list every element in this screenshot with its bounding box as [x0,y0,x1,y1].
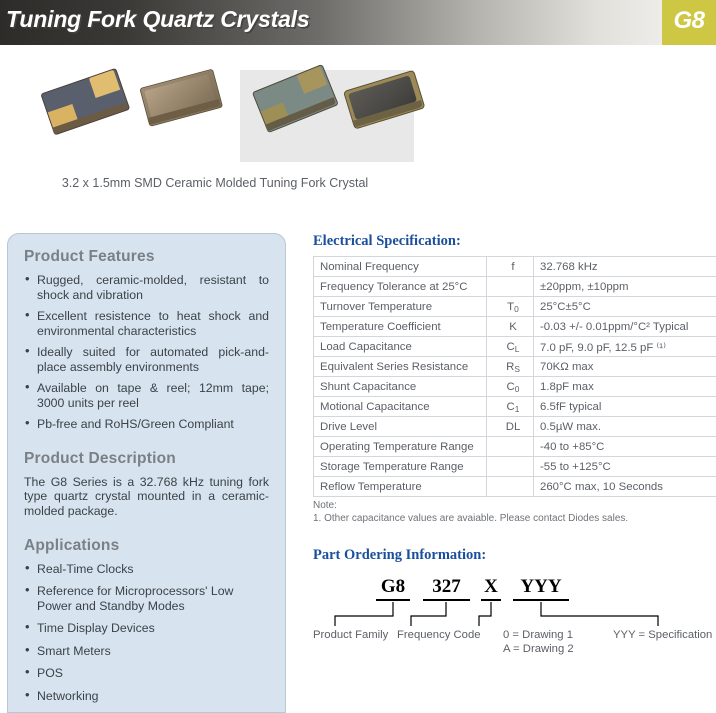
spec-symbol: DL [487,417,534,437]
spec-parameter: Equivalent Series Resistance [314,357,487,377]
part-ordering-leader-lines [313,602,705,628]
spec-symbol [487,437,534,457]
product-features-list: Rugged, ceramic-molded, resistant to sho… [24,273,269,432]
spec-parameter: Reflow Temperature [314,477,487,497]
spec-value: 32.768 kHz [534,257,716,277]
list-item: Ideally suited for automated pick-and-pl… [24,345,269,374]
product-description-text: The G8 Series is a 32.768 kHz tuning for… [24,475,269,519]
spec-symbol: C0 [487,377,534,397]
leader-lines-svg [313,602,705,628]
label-drawing-code: 0 = Drawing 1A = Drawing 2 [503,628,574,656]
series-badge: G8 [662,0,716,45]
spec-symbol: K [487,317,534,337]
spec-value: 260°C max, 10 Seconds [534,477,716,497]
list-item: Networking [24,689,269,704]
symbol-base: C [507,381,515,393]
spec-symbol: f [487,257,534,277]
product-description-heading: Product Description [24,450,269,468]
symbol-subscript: 1 [515,404,520,414]
table-row: Nominal Frequency f 32.768 kHz [314,257,716,277]
product-photo-area: 3.2 x 1.5mm SMD Ceramic Molded Tuning Fo… [0,45,716,210]
part-code-frequency: 327 [423,576,470,601]
spec-parameter: Motional Capacitance [314,397,487,417]
list-item: Real-Time Clocks [24,562,269,577]
table-row: Drive Level DL 0.5µW max. [314,417,716,437]
table-row: Turnover Temperature T0 25°C±5°C [314,297,716,317]
spec-parameter: Shunt Capacitance [314,377,487,397]
spec-value: -40 to +85°C [534,437,716,457]
leader-frequency-code [411,602,446,626]
spec-value: 1.8pF max [534,377,716,397]
table-row: Operating Temperature Range -40 to +85°C [314,437,716,457]
list-item: Available on tape & reel; 12mm tape; 300… [24,381,269,410]
spec-symbol: T0 [487,297,534,317]
table-row: Reflow Temperature 260°C max, 10 Seconds [314,477,716,497]
symbol-base: f [511,261,514,273]
table-note: Note: 1. Other capacitance values are av… [313,500,705,525]
list-item: Smart Meters [24,644,269,659]
spec-parameter: Drive Level [314,417,487,437]
spec-value: 6.5fF typical [534,397,716,417]
spec-parameter: Operating Temperature Range [314,437,487,457]
spec-symbol [487,277,534,297]
note-label: Note: [313,500,705,513]
product-image-crystal-2 [139,69,220,125]
spec-symbol [487,477,534,497]
page-header: Tuning Fork Quartz Crystals G8 [0,0,716,45]
spec-parameter: Turnover Temperature [314,297,487,317]
part-ordering-section: Part Ordering Information: G8 327 X YYY … [313,547,705,658]
part-code-drawing: X [481,576,501,601]
symbol-base: C [507,401,515,413]
applications-heading: Applications [24,537,269,555]
product-features-heading: Product Features [24,248,269,266]
symbol-base: DL [506,421,521,433]
symbol-subscript: 0 [514,304,519,314]
spec-symbol: CL [487,337,534,357]
symbol-subscript: L [515,344,520,354]
list-item: Pb-free and RoHS/Green Compliant [24,417,269,432]
spec-value: -55 to +125°C [534,457,716,477]
label-specification-code: YYY = Specification Code [613,628,716,642]
table-row: Storage Temperature Range -55 to +125°C [314,457,716,477]
electrical-specification-table: Nominal Frequency f 32.768 kHz Frequency… [313,256,716,497]
table-row: Frequency Tolerance at 25°C ±20ppm, ±10p… [314,277,716,297]
leader-specification-code [541,602,658,626]
photo-caption: 3.2 x 1.5mm SMD Ceramic Molded Tuning Fo… [0,176,430,190]
spec-table-body: Nominal Frequency f 32.768 kHz Frequency… [314,257,716,497]
spec-parameter: Temperature Coefficient [314,317,487,337]
spec-parameter: Frequency Tolerance at 25°C [314,277,487,297]
table-row: Motional Capacitance C1 6.5fF typical [314,397,716,417]
list-item: Rugged, ceramic-molded, resistant to sho… [24,273,269,302]
part-code-product-family: G8 [376,576,410,601]
spec-value: ±20ppm, ±10ppm [534,277,716,297]
spec-symbol: C1 [487,397,534,417]
spec-value: 25°C±5°C [534,297,716,317]
spec-value: 70KΩ max [534,357,716,377]
applications-list: Real-Time Clocks Reference for Microproc… [24,562,269,704]
page-title: Tuning Fork Quartz Crystals [6,6,309,33]
table-row: Equivalent Series Resistance RS 70KΩ max [314,357,716,377]
electrical-specification-heading: Electrical Specification: [313,233,705,250]
list-item: POS [24,666,269,681]
spec-symbol [487,457,534,477]
table-row: Load Capacitance CL 7.0 pF, 9.0 pF, 12.5… [314,337,716,357]
label-frequency-code: Frequency Code [397,628,481,642]
table-row: Shunt Capacitance C0 1.8pF max [314,377,716,397]
applications-section: Applications Real-Time Clocks Reference … [24,537,269,704]
symbol-subscript: S [514,364,520,374]
spec-parameter: Nominal Frequency [314,257,487,277]
leader-drawing-code [479,602,491,626]
symbol-base: K [509,321,517,333]
symbol-subscript: 0 [515,384,520,394]
label-product-family: Product Family [313,628,388,642]
product-info-panel: Product Features Rugged, ceramic-molded,… [7,233,286,713]
list-item: Reference for Microprocessors' Low Power… [24,584,269,613]
part-code-specification: YYY [513,576,569,601]
spec-parameter: Storage Temperature Range [314,457,487,477]
note-text: 1. Other capacitance values are avaiable… [313,513,705,526]
symbol-base: C [507,341,515,353]
product-image-crystal-1 [40,68,127,133]
series-badge-label: G8 [662,7,716,35]
spec-value: 0.5µW max. [534,417,716,437]
list-item: Time Display Devices [24,621,269,636]
part-number-codes: G8 327 X YYY [313,576,705,602]
specification-column: Electrical Specification: Nominal Freque… [313,233,705,658]
leader-product-family [335,602,393,626]
part-ordering-heading: Part Ordering Information: [313,547,705,564]
spec-symbol: RS [487,357,534,377]
spec-value: -0.03 +/- 0.01ppm/°C² Typical [534,317,716,337]
spec-parameter: Load Capacitance [314,337,487,357]
part-ordering-labels: Product Family Frequency Code 0 = Drawin… [313,628,705,658]
spec-value: 7.0 pF, 9.0 pF, 12.5 pF ⁽¹⁾ [534,337,716,357]
list-item: Excellent resistence to heat shock and e… [24,309,269,338]
table-row: Temperature Coefficient K -0.03 +/- 0.01… [314,317,716,337]
